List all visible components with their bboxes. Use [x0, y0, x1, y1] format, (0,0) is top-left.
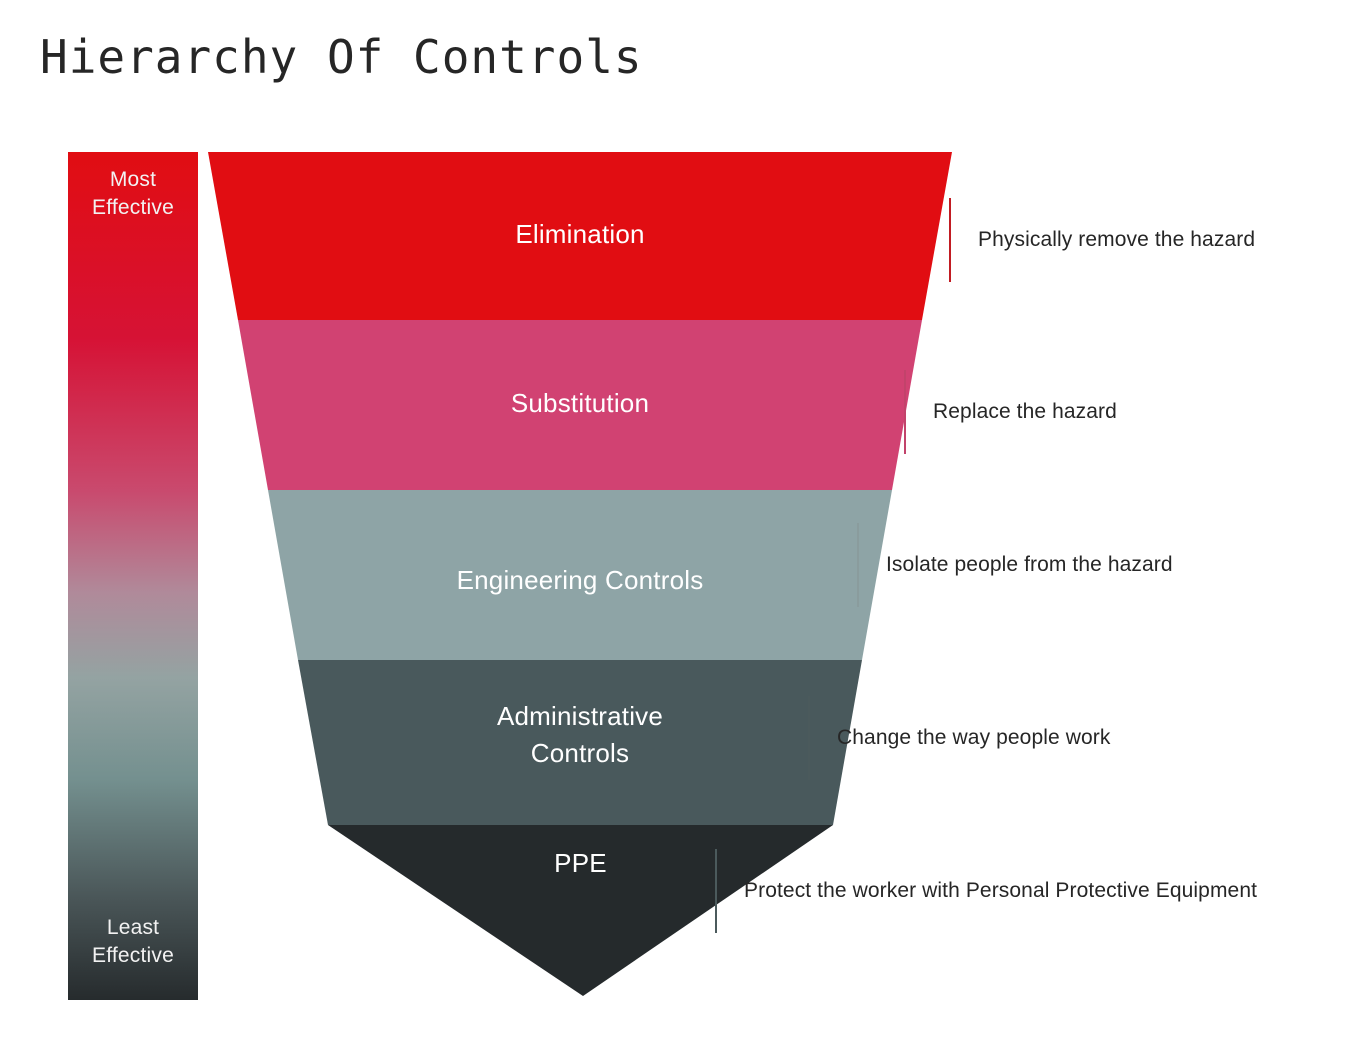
- annotation-text-engineering-controls: Isolate people from the hazard: [886, 553, 1173, 577]
- scale-label-least-effective: Least Effective: [68, 914, 198, 970]
- hierarchy-of-controls-infographic: Hierarchy Of Controls Most Effective Lea…: [0, 0, 1350, 1049]
- annotation-text-ppe: Protect the worker with Personal Protect…: [744, 879, 1257, 903]
- funnel-label-elimination: Elimination: [208, 216, 952, 253]
- funnel-label-engineering-controls: Engineering Controls: [268, 562, 892, 599]
- annotation-text-substitution: Replace the hazard: [933, 400, 1117, 424]
- annotation-tick-administrative-controls: [808, 696, 810, 780]
- annotation-substitution: Replace the hazard: [904, 370, 1117, 454]
- scale-label-most-effective: Most Effective: [68, 166, 198, 222]
- annotation-engineering: Isolate people from the hazard: [857, 523, 1173, 607]
- gradient-bar-swatch: [68, 152, 198, 1000]
- annotation-tick-engineering-controls: [857, 523, 859, 607]
- funnel-label-administrative-controls: Administrative Controls: [298, 698, 862, 772]
- annotation-text-administrative-controls: Change the way people work: [837, 726, 1110, 750]
- effectiveness-gradient-bar: Most Effective Least Effective: [68, 152, 198, 1000]
- annotation-tick-ppe: [715, 849, 717, 933]
- annotation-text-elimination: Physically remove the hazard: [978, 228, 1255, 252]
- annotation-administrative: Change the way people work: [808, 696, 1110, 780]
- annotation-tick-substitution: [904, 370, 906, 454]
- page-title: Hierarchy Of Controls: [40, 30, 643, 84]
- funnel-label-substitution: Substitution: [238, 385, 922, 422]
- annotation-elimination: Physically remove the hazard: [949, 198, 1255, 282]
- annotation-tick-elimination: [949, 198, 951, 282]
- annotation-ppe: Protect the worker with Personal Protect…: [715, 849, 1257, 933]
